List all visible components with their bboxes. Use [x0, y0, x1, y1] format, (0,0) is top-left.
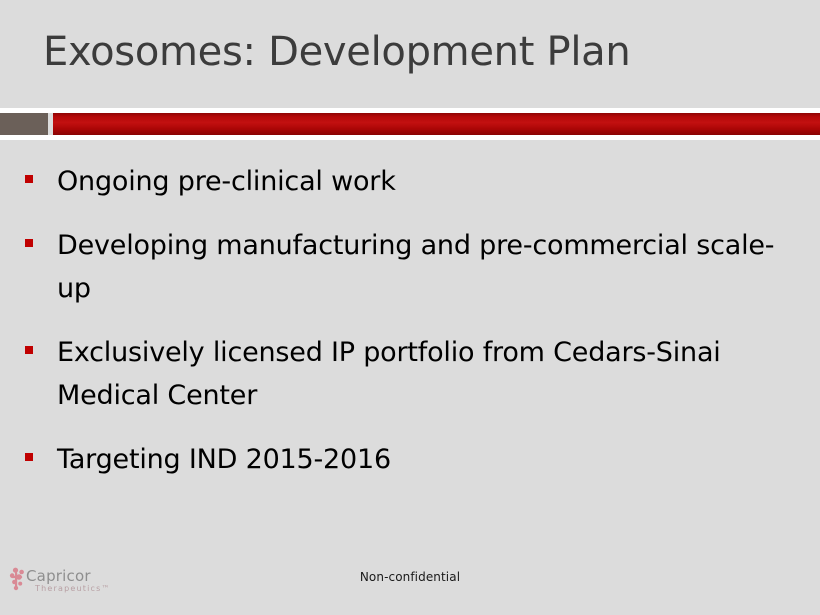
list-item-label: Targeting IND 2015-2016: [57, 438, 820, 481]
slide: Exosomes: Development Plan Ongoing pre-c…: [0, 0, 820, 615]
confidentiality-note: Non-confidential: [0, 570, 820, 584]
list-item: Developing manufacturing and pre-commerc…: [0, 224, 820, 310]
title-area: Exosomes: Development Plan: [0, 0, 820, 108]
footer: Capricor Therapeutics™ Non-confidential: [0, 555, 820, 615]
page-title: Exosomes: Development Plan: [43, 27, 630, 77]
list-item-label: Ongoing pre-clinical work: [57, 160, 820, 203]
bullet-square-icon: [25, 239, 33, 247]
divider-red-bar: [53, 113, 820, 135]
bullet-list: Ongoing pre-clinical work Developing man…: [0, 160, 820, 502]
logo-subtext: Therapeutics™: [35, 584, 111, 593]
divider: [0, 108, 820, 140]
bullet-square-icon: [25, 175, 33, 183]
list-item: Ongoing pre-clinical work: [0, 160, 820, 203]
divider-white-strip-bottom: [0, 135, 820, 140]
list-item-label: Developing manufacturing and pre-commerc…: [57, 224, 820, 310]
bullet-square-icon: [25, 453, 33, 461]
divider-left-block: [0, 113, 48, 135]
bullet-square-icon: [25, 346, 33, 354]
list-item: Targeting IND 2015-2016: [0, 438, 820, 481]
list-item-label: Exclusively licensed IP portfolio from C…: [57, 331, 820, 417]
list-item: Exclusively licensed IP portfolio from C…: [0, 331, 820, 417]
